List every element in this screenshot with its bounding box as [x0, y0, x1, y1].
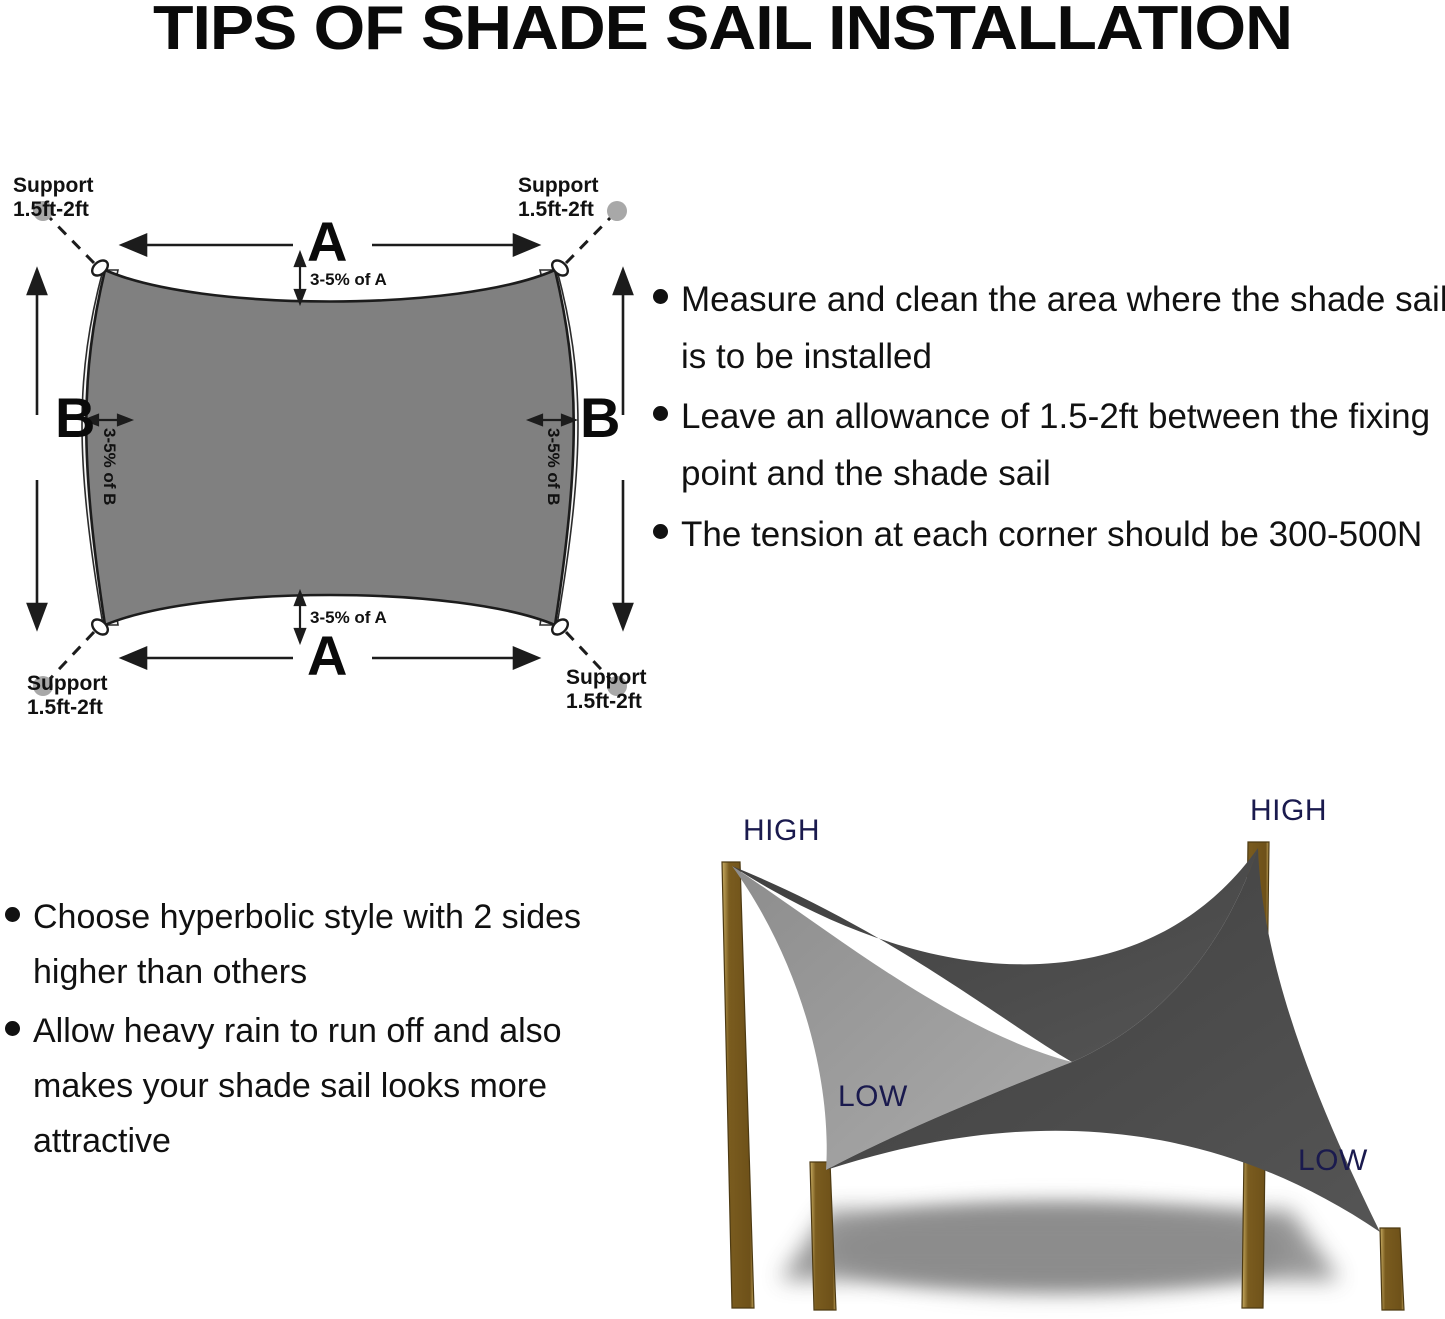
sail-body [86, 270, 574, 625]
list-item-text: Leave an allowance of 1.5-2ft between th… [681, 389, 1445, 502]
dimension-letter-a-bottom: A [307, 628, 347, 684]
hyperbolic-sail-illustration: HIGH HIGH LOW LOW [680, 780, 1445, 1319]
curvature-note-bottom: 3-5% of A [310, 608, 387, 628]
support-value-text: 1.5ft-2ft [13, 198, 89, 221]
bullet-dot-icon [653, 406, 668, 421]
label-high-left: HIGH [743, 814, 820, 848]
list-item-text: The tension at each corner should be 300… [681, 507, 1422, 564]
support-label-text: Support [13, 174, 93, 197]
dimension-arrow-b-left [28, 270, 46, 628]
support-label-text: Support [566, 666, 646, 689]
support-label-text: Support [518, 174, 598, 197]
curvature-arrow-bottom [295, 592, 305, 642]
list-item-text: Measure and clean the area where the sha… [681, 272, 1445, 385]
curvature-arrow-top [295, 253, 305, 303]
bullet-dot-icon [653, 524, 668, 539]
tie-line-top-right [566, 215, 613, 263]
post-low-left [810, 1162, 836, 1310]
list-item: Leave an allowance of 1.5-2ft between th… [653, 389, 1445, 502]
post-high-left [722, 862, 754, 1308]
tips-list-left: Choose hyperbolic style with 2 sides hig… [5, 890, 645, 1173]
curvature-note-top: 3-5% of A [310, 270, 387, 290]
support-value-text: 1.5ft-2ft [518, 198, 594, 221]
post-low-right [1380, 1228, 1404, 1310]
support-label-top-right: Support 1.5ft-2ft [518, 174, 598, 221]
dimension-letter-b-left: B [55, 390, 95, 446]
tie-line-top-left [47, 215, 94, 263]
bullet-dot-icon [5, 907, 20, 922]
support-value-text: 1.5ft-2ft [27, 696, 103, 719]
support-label-bottom-right: Support 1.5ft-2ft [566, 666, 646, 713]
dimension-letter-b-right: B [580, 390, 620, 446]
label-high-right: HIGH [1250, 794, 1327, 828]
bullet-dot-icon [653, 289, 668, 304]
label-low-left: LOW [838, 1080, 908, 1114]
support-dot-top-right [607, 201, 627, 221]
page-title: TIPS OF SHADE SAIL INSTALLATION [0, 0, 1445, 61]
list-item-text: Allow heavy rain to run off and also mak… [33, 1004, 645, 1169]
dimension-arrow-b-right [614, 270, 632, 628]
bullet-dot-icon [5, 1021, 20, 1036]
support-value-text: 1.5ft-2ft [566, 690, 642, 713]
list-item: Allow heavy rain to run off and also mak… [5, 1004, 645, 1169]
list-item-text: Choose hyperbolic style with 2 sides hig… [33, 890, 645, 1000]
tips-list-right: Measure and clean the area where the sha… [653, 272, 1445, 567]
rectangular-sail-diagram: Support 1.5ft-2ft Support 1.5ft-2ft Supp… [0, 160, 660, 740]
support-label-top-left: Support 1.5ft-2ft [13, 174, 93, 221]
label-low-right: LOW [1298, 1144, 1368, 1178]
hyperbolic-sail-svg [680, 780, 1445, 1319]
curvature-note-left: 3-5% of B [99, 428, 119, 505]
list-item: Choose hyperbolic style with 2 sides hig… [5, 890, 645, 1000]
support-label-bottom-left: Support 1.5ft-2ft [27, 672, 107, 719]
curvature-note-right: 3-5% of B [543, 428, 563, 505]
dimension-letter-a-top: A [307, 214, 347, 270]
list-item: The tension at each corner should be 300… [653, 507, 1445, 564]
support-label-text: Support [27, 672, 107, 695]
list-item: Measure and clean the area where the sha… [653, 272, 1445, 385]
